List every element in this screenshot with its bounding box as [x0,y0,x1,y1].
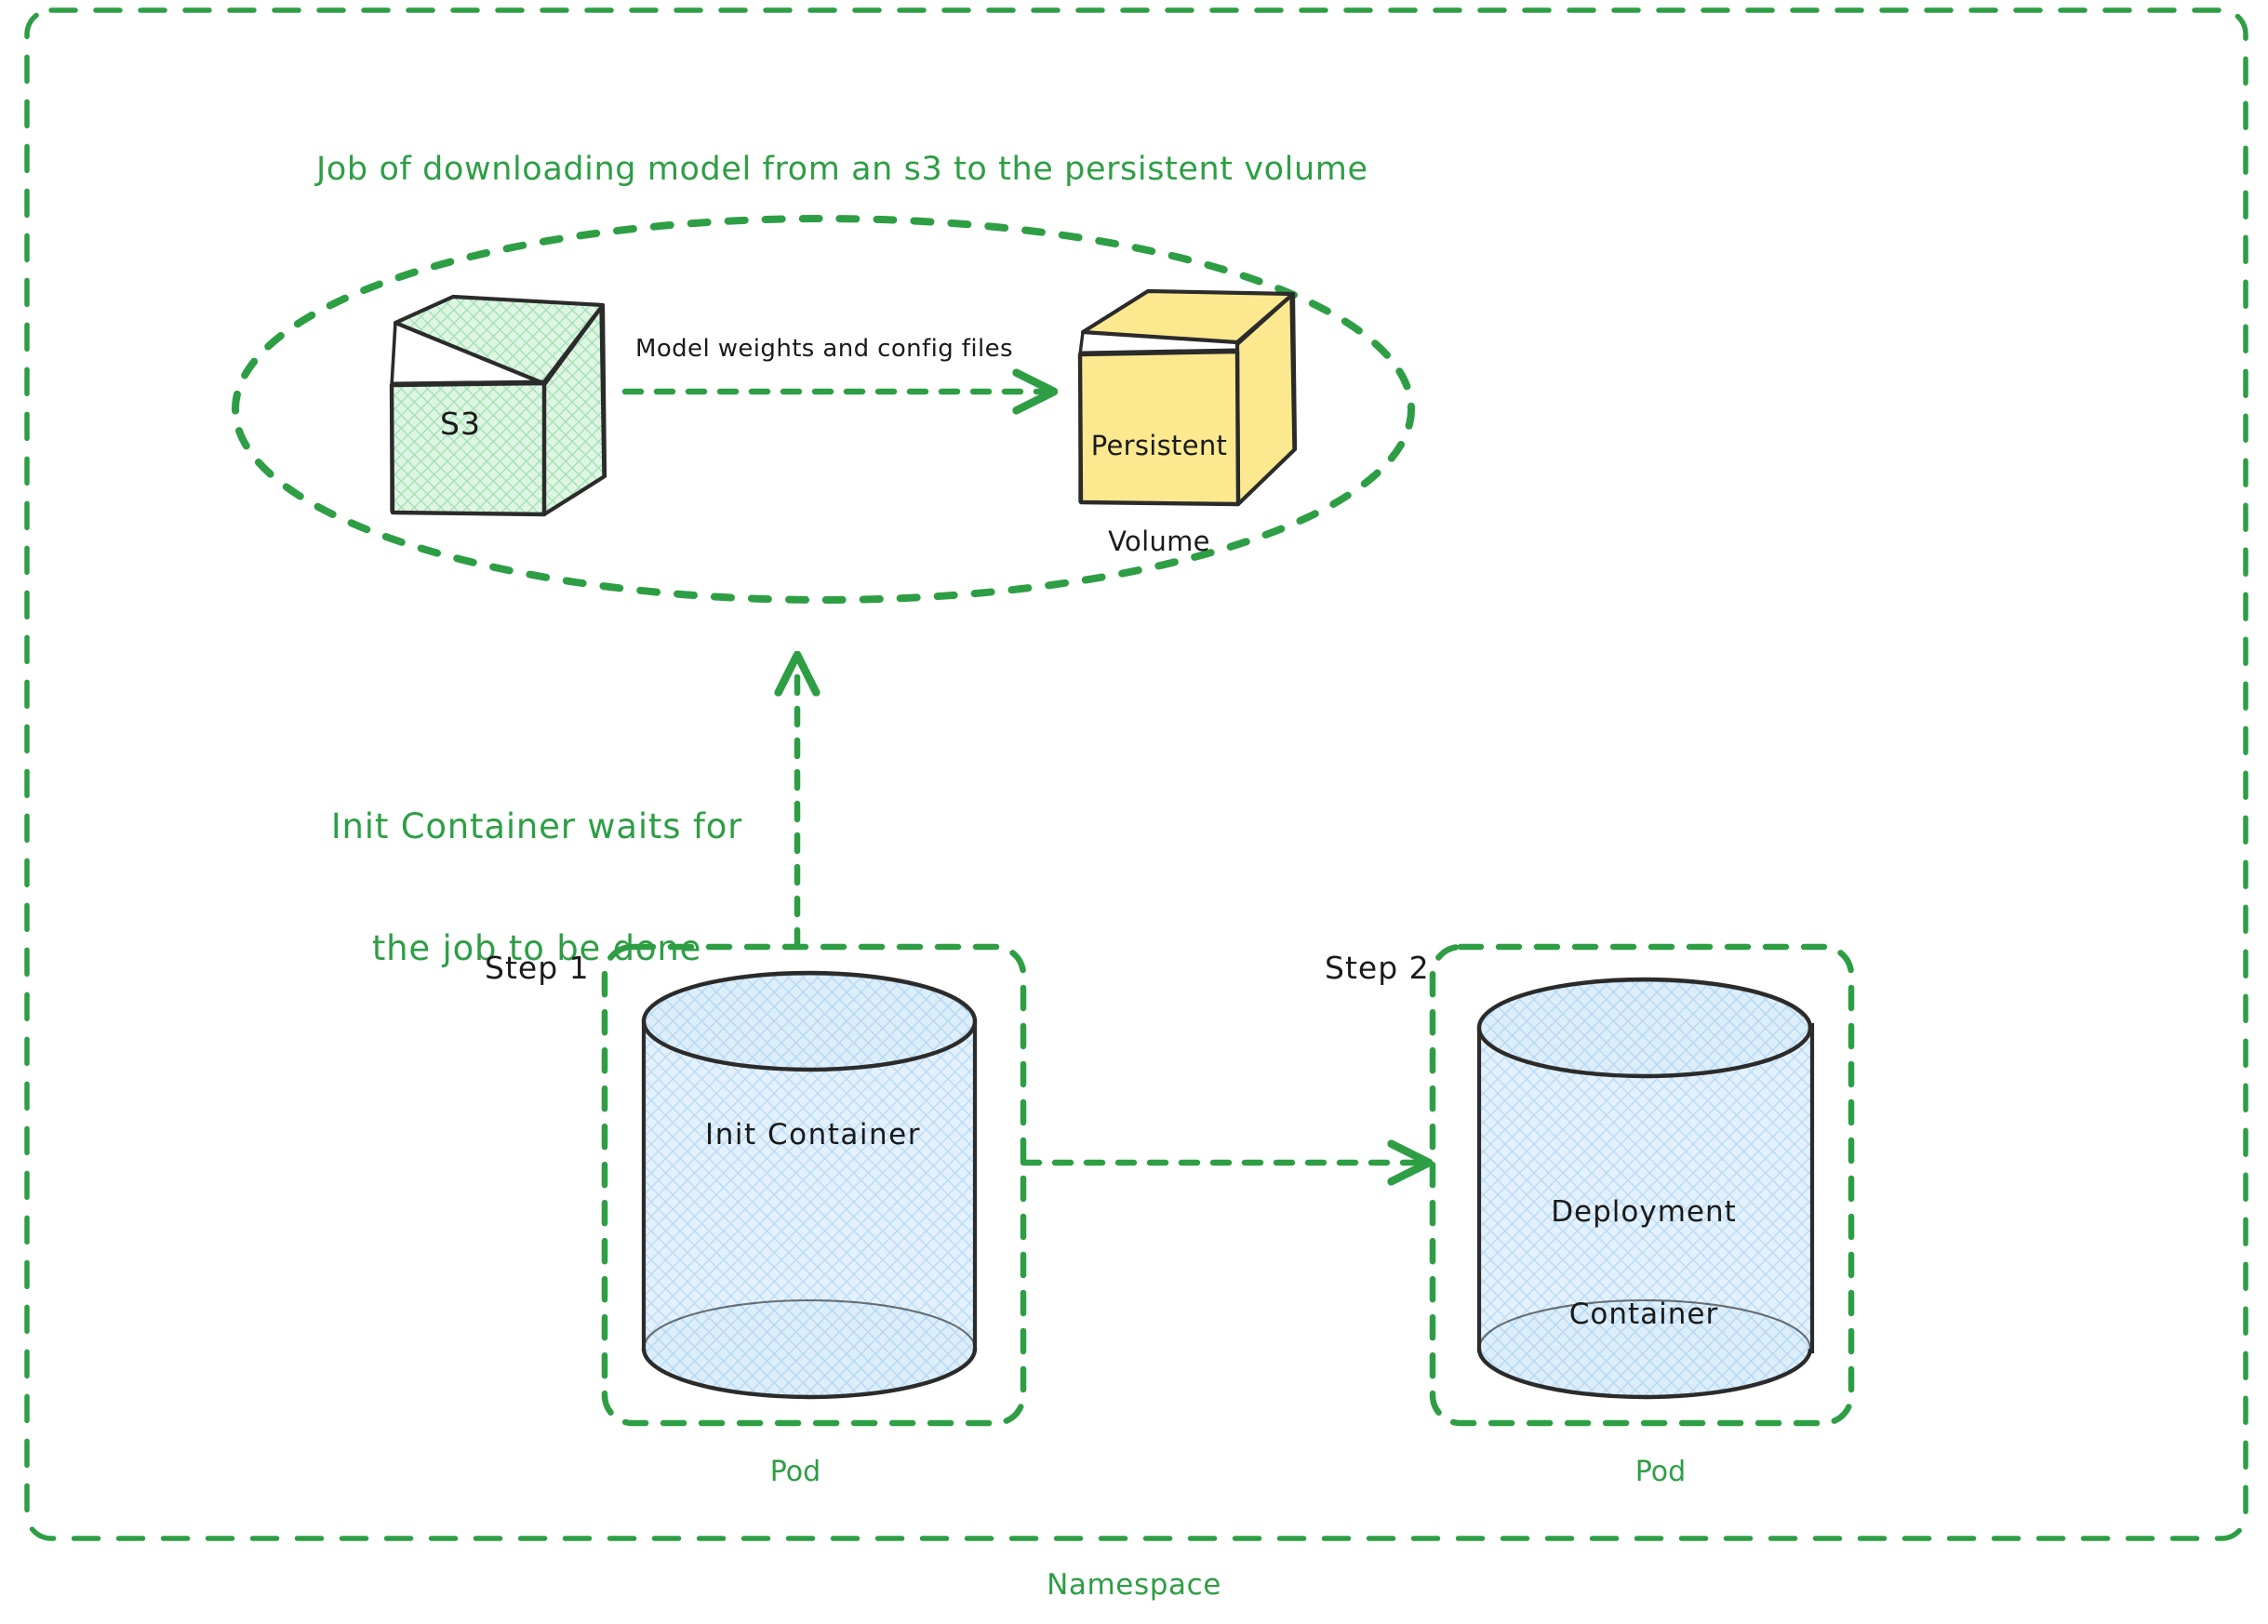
deployment-container-label: Deployment Container [1481,1127,1807,1400]
init-wait-edge-label: Init Container waits for the job to be d… [290,725,783,1050]
pod-deployment-step-label: Step 2 [1325,951,1430,987]
pod-init-label: Pod [735,1456,856,1488]
pv-label-line-2: Volume [1081,526,1237,557]
pod-init-step-label: Step 1 [485,951,590,987]
deployment-label-line-1: Deployment [1481,1195,1807,1230]
namespace-label: Namespace [985,1568,1283,1603]
s3-cube [392,297,605,514]
init-wait-label-line-1: Init Container waits for [290,806,783,847]
init-container-label: Init Container [646,1118,981,1152]
deployment-label-line-2: Container [1481,1298,1807,1332]
s3-to-pv-edge-label: Model weights and config files [635,335,1013,364]
s3-cube-label: S3 [400,406,521,443]
persistent-volume-cube-label: Persistent Volume [1081,366,1237,621]
pod-deployment-label: Pod [1600,1456,1721,1488]
job-group-title: Job of downloading model from an s3 to t… [316,151,1368,189]
diagram-canvas: Job of downloading model from an s3 to t… [0,0,2268,1624]
pv-label-line-1: Persistent [1081,430,1237,461]
